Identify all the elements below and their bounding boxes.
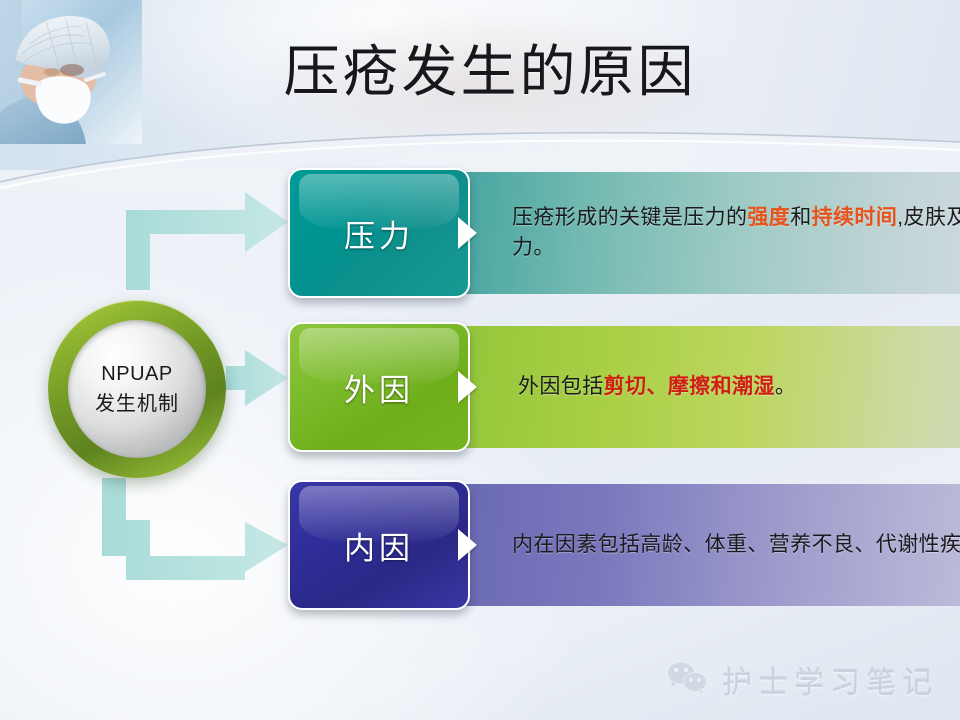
page-title: 压疮发生的原因: [240, 42, 740, 105]
hub-inner: NPUAP 发生机制: [68, 320, 206, 458]
arrow-to-pressure: [126, 192, 288, 290]
seg-0: 内在因素包括高龄、体重、营养不良、代谢性疾病、活动减少等: [512, 533, 960, 556]
wechat-icon: [666, 660, 710, 701]
arrow-to-external: [226, 350, 288, 406]
row-pressure: 压疮形成的关键是压力的强度和持续时间,皮肤及其支持结构对压力的耐受力。 压力: [288, 168, 960, 298]
panel-internal: 内在因素包括高龄、体重、营养不良、代谢性疾病、活动减少等: [466, 484, 960, 606]
seg-0: 外因包括: [518, 375, 604, 398]
seg-1: 剪切、摩擦和潮湿: [604, 375, 775, 398]
row-external: 外因包括剪切、摩擦和潮湿。 外因: [288, 322, 960, 452]
chip-pressure[interactable]: 压力: [288, 168, 470, 298]
chevron-right-icon: [458, 217, 477, 249]
surgeon-photo: [0, 0, 142, 144]
chevron-right-icon: [458, 529, 477, 561]
row-internal: 内在因素包括高龄、体重、营养不良、代谢性疾病、活动减少等 内因: [288, 480, 960, 610]
chip-label-pressure: 压力: [344, 211, 414, 256]
chip-label-internal: 内因: [344, 523, 414, 568]
chip-internal[interactable]: 内因: [288, 480, 470, 610]
panel-text-pressure: 压疮形成的关键是压力的强度和持续时间,皮肤及其支持结构对压力的耐受力。: [512, 203, 960, 263]
arrow-to-internal: [102, 478, 288, 580]
hub-label-npuap: NPUAP: [101, 363, 172, 386]
panel-pressure: 压疮形成的关键是压力的强度和持续时间,皮肤及其支持结构对压力的耐受力。: [466, 172, 960, 294]
watermark: 护士学习笔记: [666, 658, 938, 702]
chip-external[interactable]: 外因: [288, 322, 470, 452]
hub-label-mechanism: 发生机制: [95, 387, 179, 416]
chip-label-external: 外因: [344, 365, 414, 410]
panel-external: 外因包括剪切、摩擦和潮湿。: [466, 326, 960, 448]
seg-3: 持续时间: [812, 206, 898, 229]
npuap-hub-circle: NPUAP 发生机制: [48, 300, 226, 478]
panel-text-internal: 内在因素包括高龄、体重、营养不良、代谢性疾病、活动减少等: [512, 530, 960, 560]
seg-2: 和: [790, 206, 811, 229]
seg-1: 强度: [747, 206, 790, 229]
watermark-text: 护士学习笔记: [722, 658, 938, 702]
chevron-right-icon: [458, 371, 477, 403]
slide-canvas: 压疮发生的原因 NPUAP 发生机制 压疮形成的关键是压力的强度和持续时间,皮肤…: [0, 0, 960, 720]
panel-text-external: 外因包括剪切、摩擦和潮湿。: [512, 372, 796, 402]
seg-2: 。: [775, 375, 796, 398]
seg-0: 压疮形成的关键是压力的: [512, 206, 747, 229]
